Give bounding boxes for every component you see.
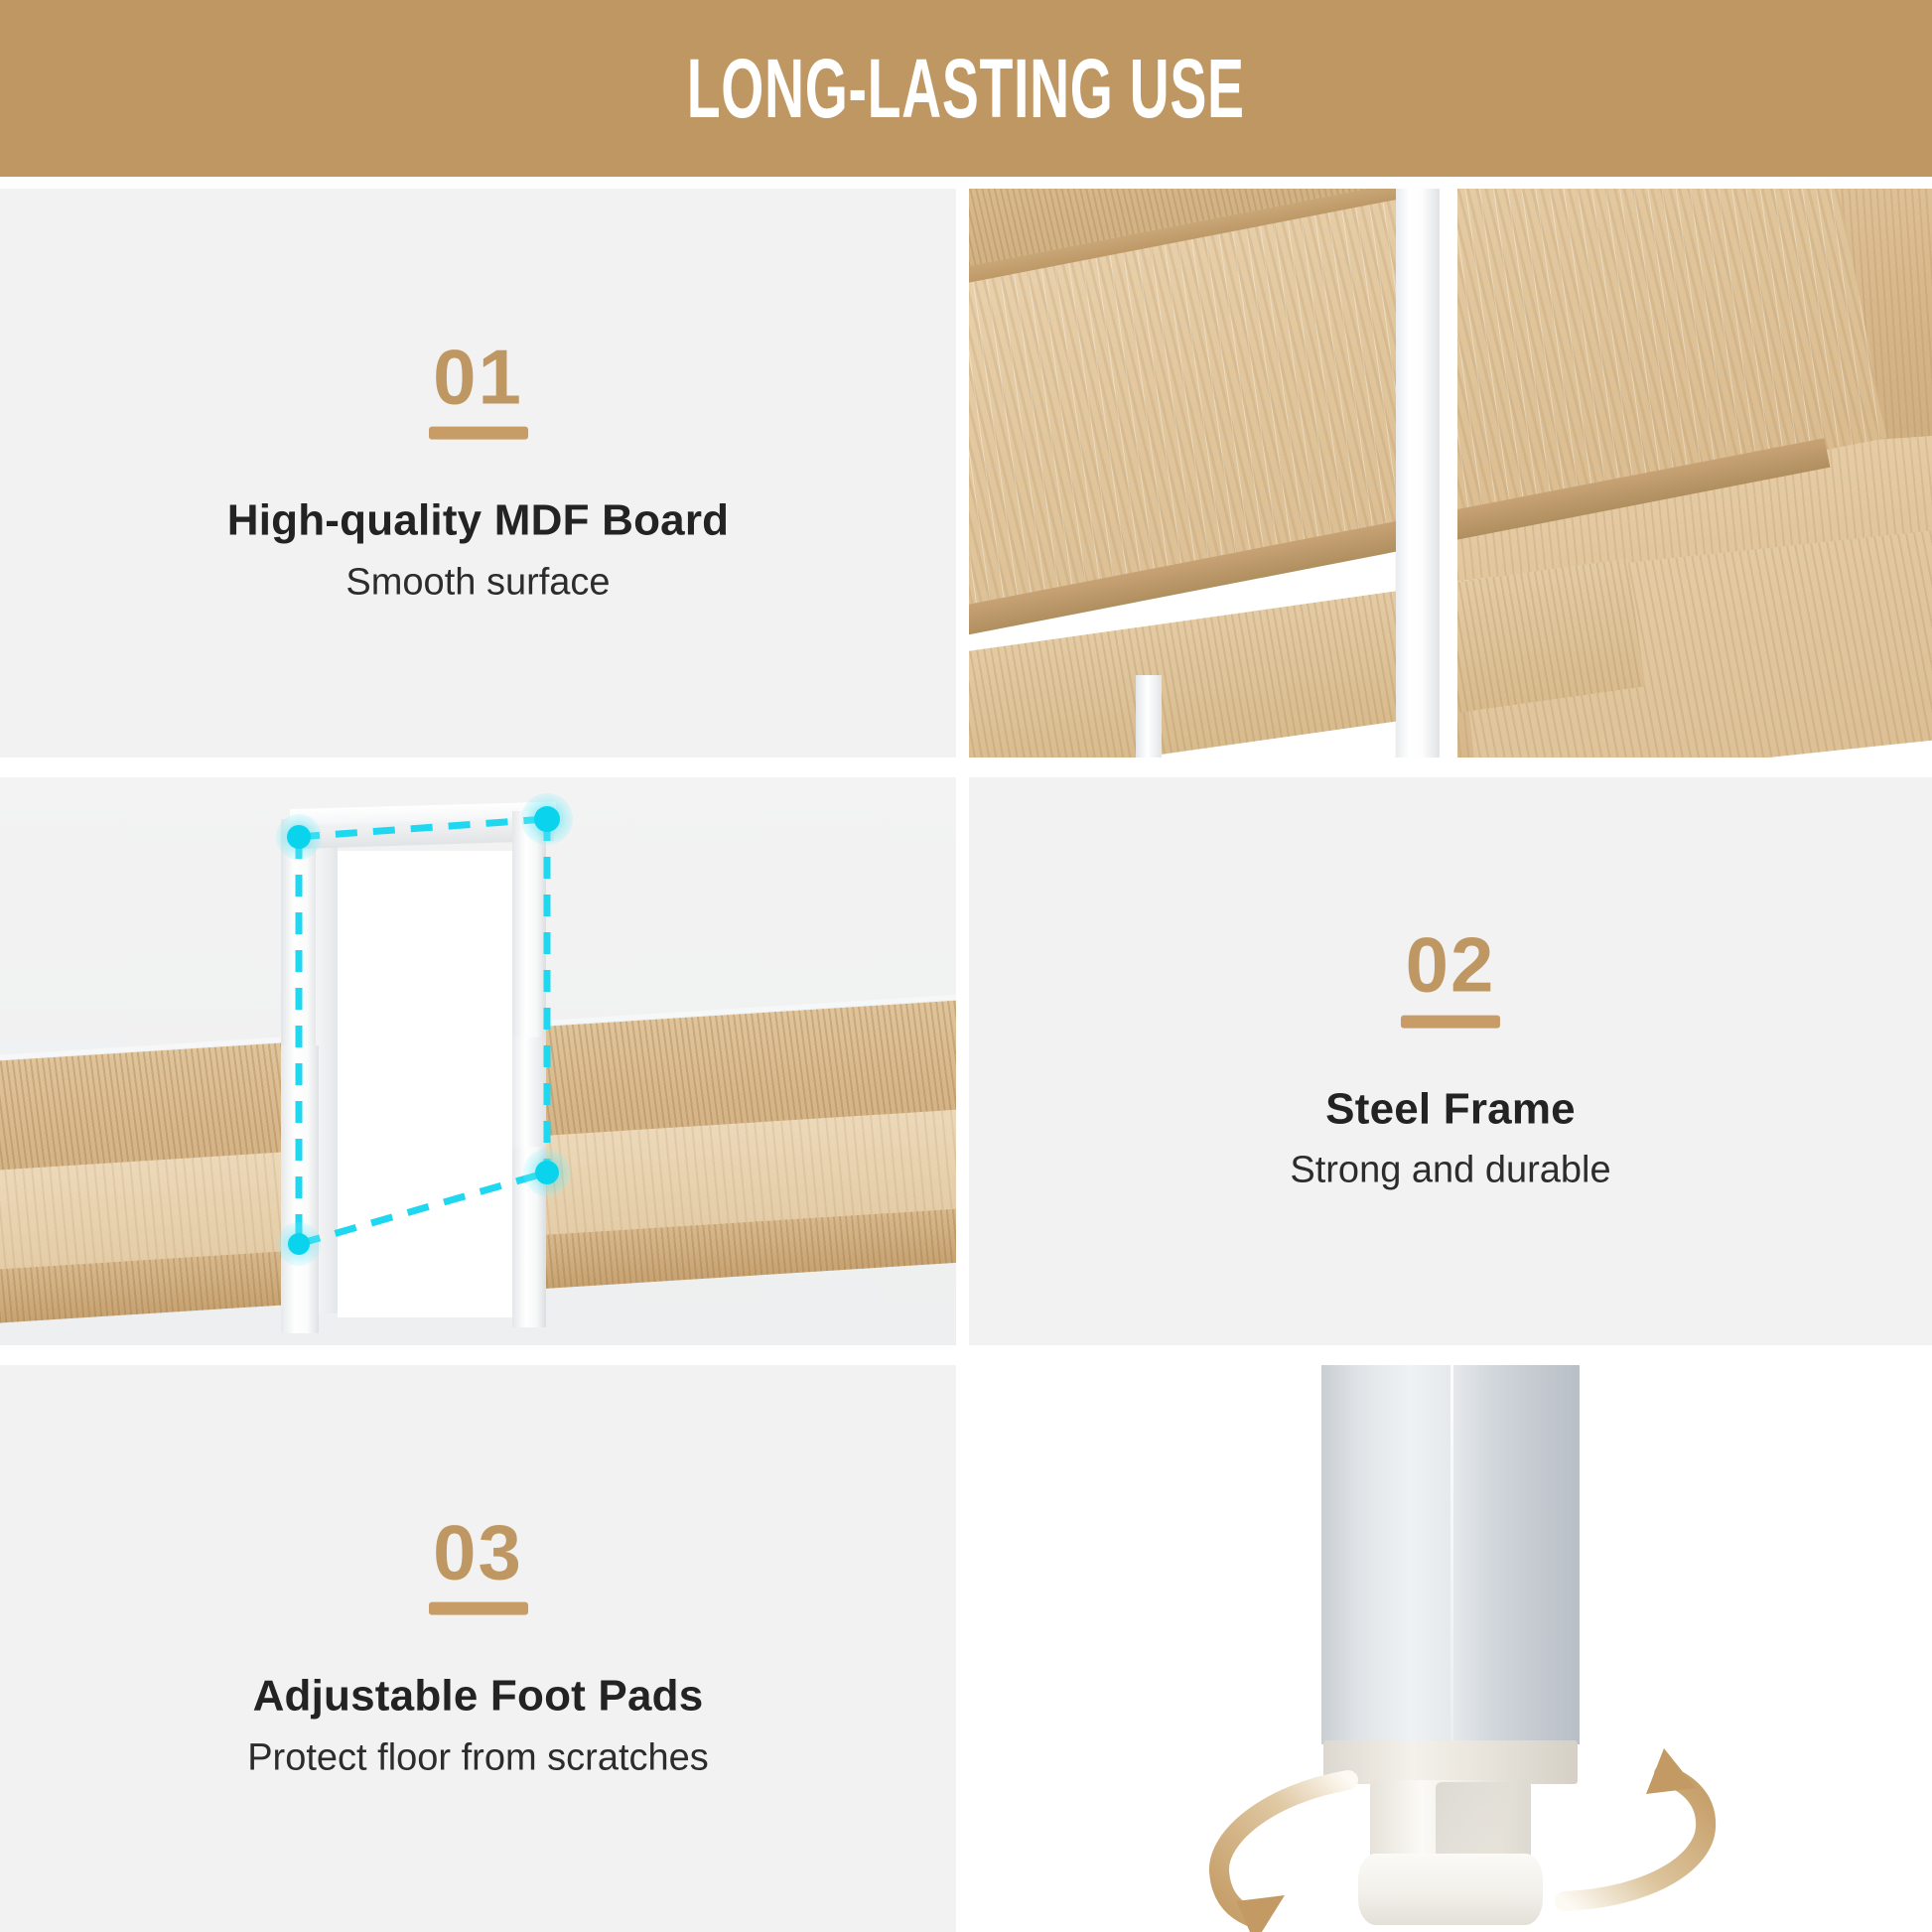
feature-cell-02: 02 Steel Frame Strong and durable bbox=[969, 777, 1932, 1345]
measurement-overlay bbox=[0, 777, 956, 1345]
feature-subtitle-02: Strong and durable bbox=[1290, 1150, 1610, 1193]
steel-frame-measurement-image bbox=[0, 777, 956, 1345]
corner-marker-top-left bbox=[276, 814, 322, 860]
header-banner: LONG-LASTING USE bbox=[0, 0, 1932, 177]
corner-marker-top-right bbox=[521, 793, 573, 845]
photo-cell-foot-pad bbox=[969, 1365, 1932, 1932]
photo-cell-mdf-board bbox=[969, 189, 1932, 758]
arrow-right-curve bbox=[1565, 1774, 1706, 1901]
page-title: LONG-LASTING USE bbox=[687, 47, 1245, 130]
arrow-left-curve bbox=[1219, 1780, 1348, 1919]
mdf-board-closeup-image bbox=[969, 189, 1932, 758]
feature-number-underline bbox=[429, 1602, 528, 1615]
feature-number-02: 02 bbox=[1406, 930, 1496, 1002]
feature-title-01: High-quality MDF Board bbox=[227, 497, 729, 545]
arrow-left-head bbox=[1236, 1895, 1285, 1932]
steel-post-lower bbox=[1136, 675, 1162, 758]
feature-cell-01: 01 High-quality MDF Board Smooth surface bbox=[0, 189, 956, 758]
infographic-page: LONG-LASTING USE 01 High-quality MDF Boa… bbox=[0, 0, 1932, 1932]
foot-pad-closeup-image bbox=[969, 1365, 1932, 1932]
feature-block-01: 01 High-quality MDF Board Smooth surface bbox=[0, 342, 956, 605]
feature-subtitle-01: Smooth surface bbox=[345, 561, 610, 605]
steel-post-front bbox=[1396, 189, 1440, 758]
dashed-line-top bbox=[298, 819, 546, 837]
feature-number-03: 03 bbox=[433, 1517, 523, 1588]
feature-title-03: Adjustable Foot Pads bbox=[253, 1673, 704, 1721]
corner-marker-bottom-right bbox=[523, 1149, 571, 1196]
feature-block-02: 02 Steel Frame Strong and durable bbox=[969, 930, 1932, 1193]
dashed-line-bottom bbox=[299, 1173, 547, 1244]
feature-number-01: 01 bbox=[433, 342, 523, 413]
feature-subtitle-03: Protect floor from scratches bbox=[247, 1736, 709, 1780]
feature-cell-03: 03 Adjustable Foot Pads Protect floor fr… bbox=[0, 1365, 956, 1932]
corner-marker-bottom-left bbox=[277, 1222, 321, 1266]
rotation-arrows bbox=[969, 1365, 1932, 1932]
feature-number-underline bbox=[429, 427, 528, 440]
feature-title-02: Steel Frame bbox=[1325, 1085, 1576, 1133]
arrow-right-head bbox=[1646, 1748, 1696, 1794]
photo-cell-steel-frame bbox=[0, 777, 956, 1345]
feature-number-underline bbox=[1401, 1015, 1500, 1028]
feature-block-03: 03 Adjustable Foot Pads Protect floor fr… bbox=[0, 1517, 956, 1780]
